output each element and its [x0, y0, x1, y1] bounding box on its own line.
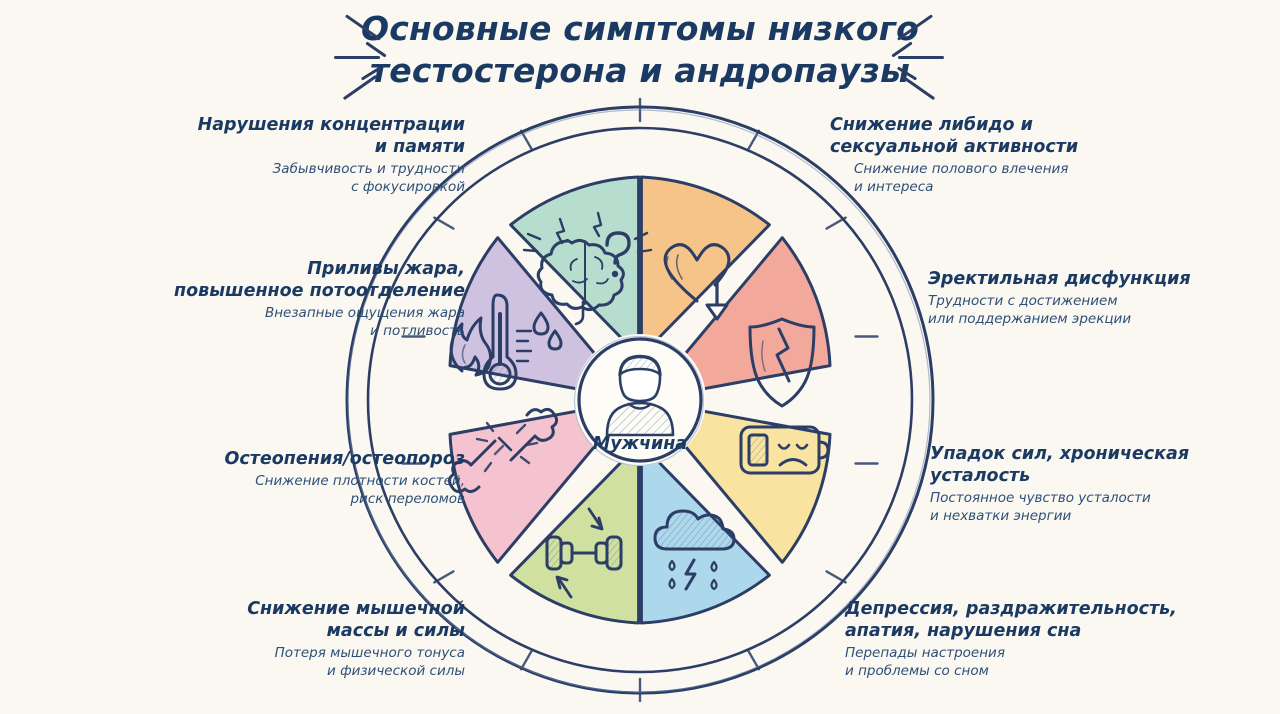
title-line-1: Основные симптомы низкого [0, 8, 1280, 50]
infographic-canvas: Основные симптомы низкого тестостерона и… [0, 0, 1280, 714]
page-title: Основные симптомы низкого тестостерона и… [0, 8, 1280, 92]
label-fatigue-subtext: Постоянное чувство усталости и нехватки … [930, 489, 1230, 525]
title-sparkle-right [868, 18, 948, 98]
center-hub-label: Мужчина [593, 434, 687, 454]
label-erectile-subtext: Трудности с достижением или поддержанием… [928, 292, 1258, 328]
label-fatigue: Упадок сил, хроническая усталость Постоя… [930, 443, 1230, 525]
label-erectile: Эректильная дисфункция Трудности с дости… [928, 268, 1258, 328]
title-sparkle-left [330, 18, 410, 98]
label-fatigue-heading: Упадок сил, хроническая усталость [930, 443, 1230, 487]
title-line-2: тестостерона и андропаузы [0, 50, 1280, 92]
symptom-wheel: Мужчина [345, 105, 935, 695]
label-erectile-heading: Эректильная дисфункция [928, 268, 1258, 290]
